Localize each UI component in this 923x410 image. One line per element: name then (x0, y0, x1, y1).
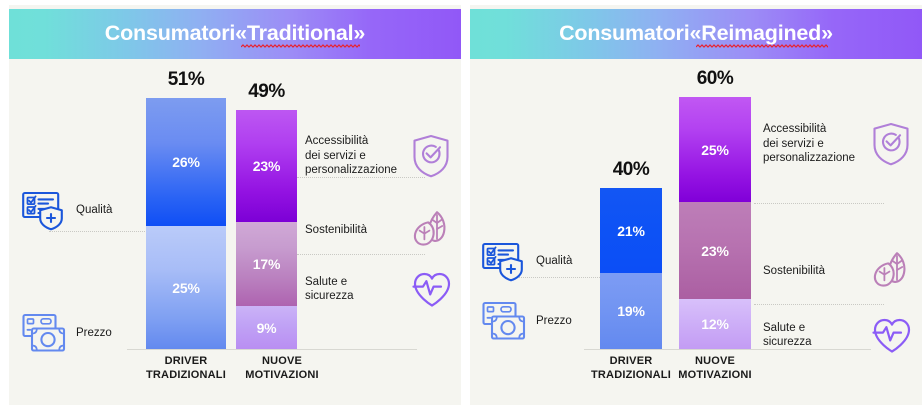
panel-title-emphasis: «Reimagined» (690, 21, 833, 45)
panel-header-traditional: Consumatori «Traditional» (9, 9, 461, 59)
segment-label-qualita: 26% (172, 154, 199, 170)
legend-label-qualita-reimagined: Qualità (536, 254, 572, 269)
legend-label-salute-traditional: Salute e sicurezza (305, 275, 401, 304)
legend-label-sostenibilita-reimagined: Sostenibilità (763, 264, 861, 279)
connector-line-qualita-prezzo (49, 231, 149, 232)
segment-sostenibilita: 23% (679, 202, 751, 299)
segment-label-sostenibilita: 17% (253, 256, 280, 272)
legend-label-salute-reimagined: Salute e sicurezza (763, 321, 861, 350)
segment-prezzo: 25% (146, 226, 226, 349)
infographic-root: Consumatori «Traditional» 51% (0, 0, 923, 410)
segment-label-sostenibilita: 23% (701, 243, 728, 259)
legend-label-prezzo-reimagined: Prezzo (536, 314, 572, 329)
quality-checklist-shield-icon (21, 189, 67, 231)
panel-title-reimagined: Consumatori «Reimagined» (559, 21, 833, 47)
heart-pulse-icon (871, 315, 913, 355)
panel-title-prefix: Consumatori (559, 21, 689, 46)
panel-title-emphasis: «Traditional» (235, 21, 365, 45)
segment-label-prezzo: 25% (172, 280, 199, 296)
segment-label-accessibilita: 25% (701, 142, 728, 158)
shield-check-icon (871, 121, 911, 167)
bar-total-driver-reimagined: 40% (600, 159, 662, 181)
legend-item-qualita-traditional: Qualità (21, 189, 112, 231)
segment-salute: 12% (679, 299, 751, 349)
panel-reimagined: Consumatori «Reimagined» 40% (470, 5, 922, 405)
leaf-icon (411, 209, 451, 251)
legend-label-sostenibilita-traditional: Sostenibilità (305, 223, 401, 238)
legend-item-accessibilita-traditional: Accessibilità dei servizi e personalizza… (305, 133, 451, 179)
segment-accessibilita: 23% (236, 110, 297, 222)
bar-total-nuove-traditional: 49% (236, 81, 297, 103)
panel-header-reimagined: Consumatori «Reimagined» (470, 9, 922, 59)
connector-line-sosten-salute (754, 304, 884, 305)
axis-label-driver-traditional: DRIVER TRADIZIONALI (131, 355, 241, 382)
shield-check-icon (411, 133, 451, 179)
segment-label-accessibilita: 23% (253, 158, 280, 174)
bar-driver-reimagined: 21% 19% (600, 188, 662, 349)
panel-traditional: Consumatori «Traditional» 51% (9, 5, 461, 405)
axis-baseline-traditional (127, 349, 417, 350)
segment-label-qualita: 21% (617, 223, 644, 239)
segment-sostenibilita: 17% (236, 222, 297, 306)
bar-nuove-traditional: 23% 17% 9% (236, 110, 297, 349)
legend-item-sostenibilita-reimagined: Sostenibilità (763, 250, 911, 292)
price-card-banknote-icon (481, 299, 527, 343)
segment-qualita: 26% (146, 98, 226, 226)
legend-item-prezzo-traditional: Prezzo (21, 311, 112, 355)
segment-salute: 9% (236, 306, 297, 349)
segment-label-salute: 12% (701, 316, 728, 332)
quality-checklist-shield-icon (481, 240, 527, 282)
segment-label-prezzo: 19% (617, 303, 644, 319)
panel-title-emphasis-wrapper: «Reimagined» (690, 21, 833, 47)
panel-title-emphasis-wrapper: «Traditional» (235, 21, 365, 47)
panel-title-traditional: Consumatori «Traditional» (105, 21, 365, 47)
bar-total-nuove-reimagined: 60% (679, 68, 751, 90)
legend-item-salute-reimagined: Salute e sicurezza (763, 315, 913, 355)
axis-label-nuove-reimagined: NUOVE MOTIVAZIONI (660, 355, 770, 382)
legend-item-sostenibilita-traditional: Sostenibilità (305, 209, 451, 251)
spellcheck-squiggle-icon (696, 44, 828, 48)
legend-item-salute-traditional: Salute e sicurezza (305, 269, 453, 309)
chart-area-reimagined: 40% 21% 19% 60% 25% 23% 12% (470, 59, 922, 405)
bar-driver-traditional: 26% 25% (146, 98, 226, 349)
chart-area-traditional: 51% 26% 25% 49% 23% 17% 9% (9, 59, 461, 405)
connector-line-access-sosten (754, 203, 884, 204)
leaf-icon (871, 250, 911, 292)
heart-pulse-icon (411, 269, 453, 309)
legend-label-qualita-traditional: Qualità (76, 203, 112, 218)
connector-line-sosten-salute (297, 254, 425, 255)
spellcheck-squiggle-icon (241, 44, 360, 48)
panel-title-prefix: Consumatori (105, 21, 235, 46)
segment-accessibilita: 25% (679, 97, 751, 202)
legend-label-accessibilita-reimagined: Accessibilità dei servizi e personalizza… (763, 122, 861, 166)
axis-label-nuove-traditional: NUOVE MOTIVAZIONI (227, 355, 337, 382)
segment-prezzo: 19% (600, 273, 662, 349)
segment-qualita: 21% (600, 188, 662, 273)
legend-label-accessibilita-traditional: Accessibilità dei servizi e personalizza… (305, 134, 401, 178)
legend-item-accessibilita-reimagined: Accessibilità dei servizi e personalizza… (763, 121, 911, 167)
segment-label-salute: 9% (257, 320, 277, 336)
legend-item-prezzo-reimagined: Prezzo (481, 299, 572, 343)
bar-total-driver-traditional: 51% (146, 69, 226, 91)
bar-nuove-reimagined: 25% 23% 12% (679, 97, 751, 349)
legend-label-prezzo-traditional: Prezzo (76, 326, 112, 341)
legend-item-qualita-reimagined: Qualità (481, 240, 572, 282)
price-card-banknote-icon (21, 311, 67, 355)
